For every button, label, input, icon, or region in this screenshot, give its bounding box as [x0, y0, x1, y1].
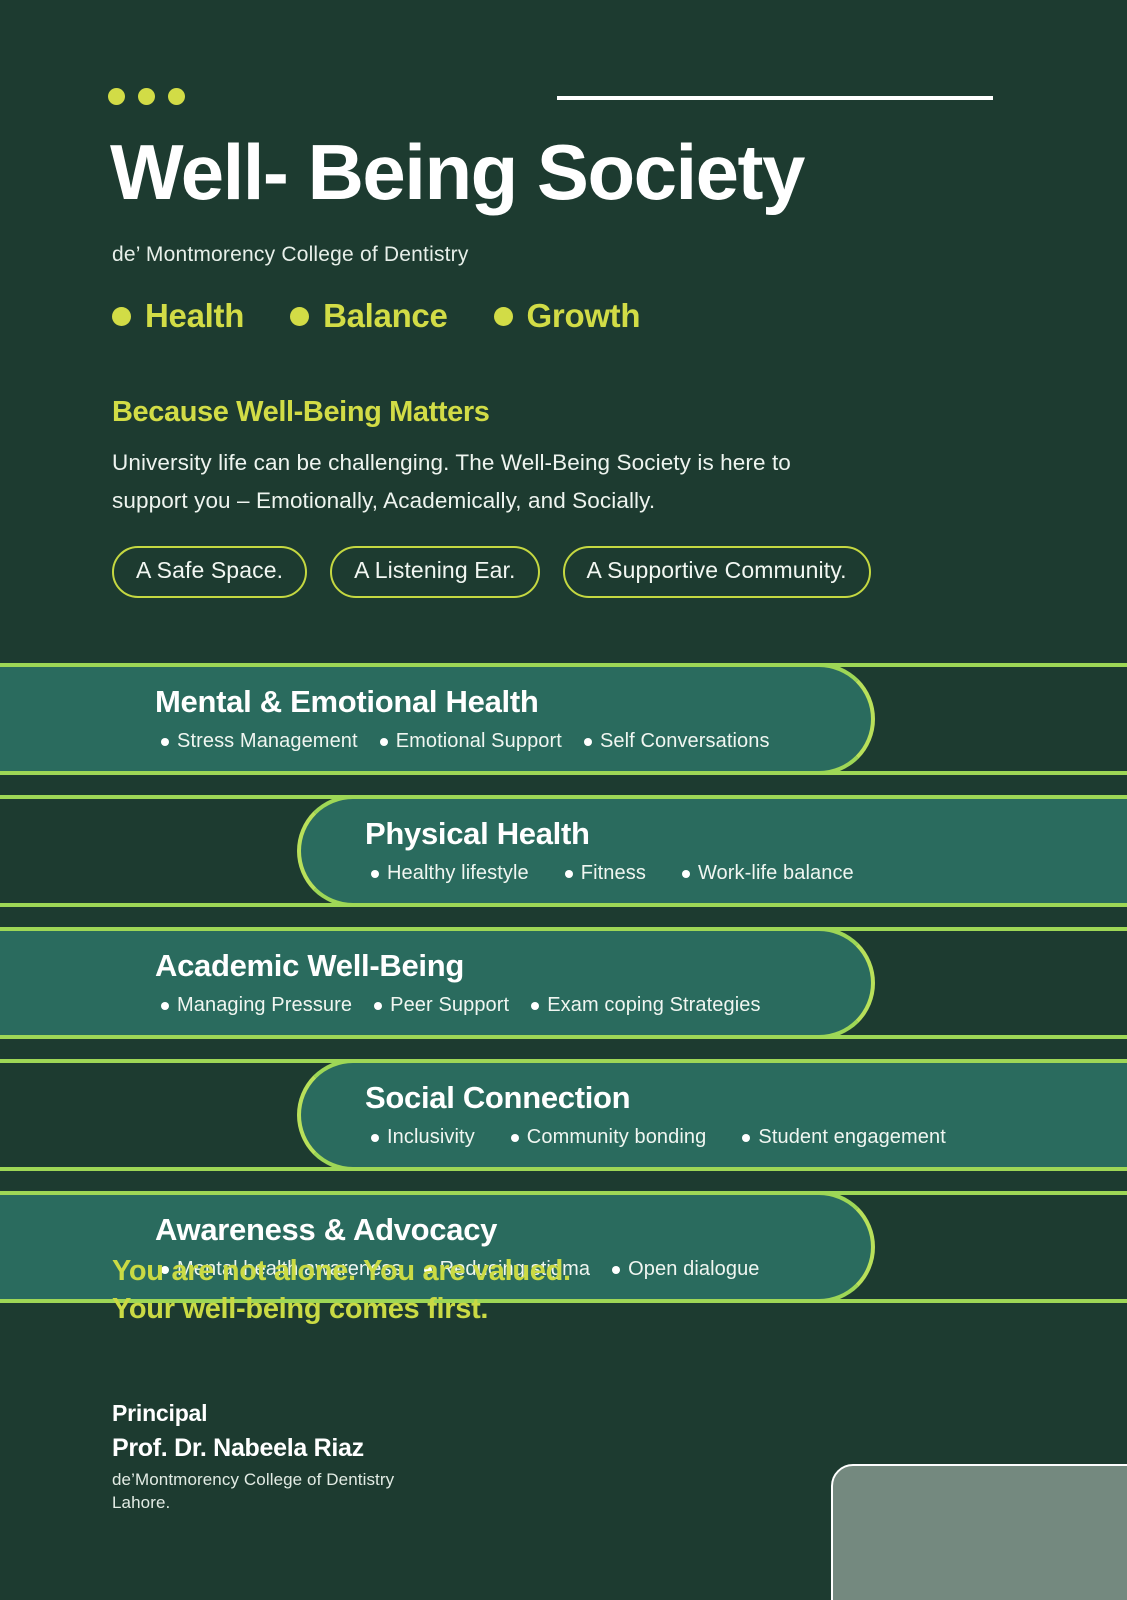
- bar-item-list: Healthy lifestyle Fitness Work-life bala…: [365, 862, 854, 885]
- list-item-label: Exam coping Strategies: [547, 994, 760, 1017]
- bar-content: Mental & Emotional Health Stress Managem…: [0, 667, 770, 771]
- bar-content: Academic Well-Being Managing Pressure Pe…: [0, 931, 761, 1035]
- bullet-dot-icon: [371, 1134, 379, 1142]
- bar-bottom-edge: [0, 771, 1127, 775]
- bar-bottom-edge: [0, 1167, 1127, 1171]
- horizontal-rule-icon: [557, 96, 993, 100]
- bullet-dot-icon: [161, 1002, 169, 1010]
- signature-org-line-2: Lahore.: [112, 1492, 394, 1515]
- signature-org-line-1: de’Montmorency College of Dentistry: [112, 1469, 394, 1492]
- chip-supportive-community[interactable]: A Supportive Community.: [563, 546, 871, 598]
- bullet-dot-icon: [742, 1134, 750, 1142]
- dot-2-icon: [138, 88, 155, 105]
- list-item-label: Fitness: [581, 862, 646, 885]
- list-item: Emotional Support: [380, 730, 562, 753]
- chip-listening-ear[interactable]: A Listening Ear.: [330, 546, 539, 598]
- pillar-item-growth: Growth: [494, 297, 641, 335]
- bar-bottom-edge: [0, 903, 1127, 907]
- bar-title: Awareness & Advocacy: [155, 1213, 760, 1247]
- list-item: Inclusivity: [371, 1126, 475, 1149]
- page-title: Well- Being Society: [110, 133, 804, 211]
- three-dots-icon: [108, 88, 185, 105]
- corner-panel: [831, 1464, 1127, 1600]
- list-item-label: Inclusivity: [387, 1126, 475, 1149]
- bullet-dot-icon: [371, 870, 379, 878]
- list-item: Student engagement: [742, 1126, 946, 1149]
- bar-gap: [0, 775, 1127, 795]
- focus-bar-academic-well-being[interactable]: Academic Well-Being Managing Pressure Pe…: [0, 927, 875, 1039]
- bar-title: Academic Well-Being: [155, 949, 761, 983]
- bullet-dot-icon: [511, 1134, 519, 1142]
- bar-gap: [0, 1039, 1127, 1059]
- list-item-label: Stress Management: [177, 730, 358, 753]
- bullet-dot-icon: [374, 1002, 382, 1010]
- intro-body-line-2: support you – Emotionally, Academically,…: [112, 482, 996, 520]
- intro-heading: Because Well-Being Matters: [112, 396, 489, 429]
- focus-bar-social-connection[interactable]: Social Connection Inclusivity Community …: [297, 1059, 1127, 1171]
- closing-line-2: Your well-being comes first.: [112, 1290, 571, 1328]
- page-subtitle: de’ Montmorency College of Dentistry: [112, 243, 469, 267]
- chip-list: A Safe Space. A Listening Ear. A Support…: [112, 546, 871, 598]
- bullet-dot-icon: [531, 1002, 539, 1010]
- bullet-dot-icon: [682, 870, 690, 878]
- signature-role: Principal: [112, 1400, 394, 1427]
- bar-item-list: Stress Management Emotional Support Self…: [155, 730, 770, 753]
- bar-title: Social Connection: [365, 1081, 946, 1115]
- list-item: Community bonding: [511, 1126, 707, 1149]
- dot-3-icon: [168, 88, 185, 105]
- list-item: Open dialogue: [612, 1258, 759, 1281]
- list-item-label: Healthy lifestyle: [387, 862, 529, 885]
- poster-canvas: Well- Being Society de’ Montmorency Coll…: [0, 0, 1127, 1600]
- signature-block: Principal Prof. Dr. Nabeela Riaz de’Mont…: [112, 1400, 394, 1514]
- closing-line-1: You are not alone. You are valued.: [112, 1252, 571, 1290]
- pillar-item-balance: Balance: [290, 297, 447, 335]
- pillar-label: Balance: [323, 297, 447, 335]
- bullet-dot-icon: [161, 738, 169, 746]
- list-item-label: Open dialogue: [628, 1258, 759, 1281]
- bar-content: Social Connection Inclusivity Community …: [301, 1063, 946, 1167]
- focus-bar-mental-emotional-health[interactable]: Mental & Emotional Health Stress Managem…: [0, 663, 875, 775]
- bar-bottom-edge: [0, 1035, 1127, 1039]
- bar-gap: [0, 907, 1127, 927]
- list-item-label: Managing Pressure: [177, 994, 352, 1017]
- bullet-dot-icon: [612, 1266, 620, 1274]
- list-item: Work-life balance: [682, 862, 854, 885]
- list-item-label: Community bonding: [527, 1126, 707, 1149]
- intro-body-line-1: University life can be challenging. The …: [112, 444, 996, 482]
- list-item-label: Self Conversations: [600, 730, 770, 753]
- focus-area-list: Mental & Emotional Health Stress Managem…: [0, 663, 1127, 1303]
- list-item: Exam coping Strategies: [531, 994, 760, 1017]
- pillar-item-health: Health: [112, 297, 244, 335]
- chip-safe-space[interactable]: A Safe Space.: [112, 546, 307, 598]
- list-item: Fitness: [565, 862, 646, 885]
- signature-name: Prof. Dr. Nabeela Riaz: [112, 1434, 394, 1463]
- list-item-label: Peer Support: [390, 994, 509, 1017]
- bar-content: Physical Health Healthy lifestyle Fitnes…: [301, 799, 854, 903]
- pillar-label: Health: [145, 297, 244, 335]
- signature-organization: de’Montmorency College of Dentistry Laho…: [112, 1469, 394, 1514]
- list-item-label: Emotional Support: [396, 730, 562, 753]
- bullet-dot-icon: [584, 738, 592, 746]
- intro-body: University life can be challenging. The …: [112, 444, 996, 520]
- bullet-dot-icon: [112, 307, 131, 326]
- pillar-list: Health Balance Growth: [112, 297, 640, 335]
- list-item: Peer Support: [374, 994, 509, 1017]
- list-item: Self Conversations: [584, 730, 770, 753]
- dot-1-icon: [108, 88, 125, 105]
- list-item: Managing Pressure: [161, 994, 352, 1017]
- bullet-dot-icon: [494, 307, 513, 326]
- bar-item-list: Inclusivity Community bonding Student en…: [365, 1126, 946, 1149]
- list-item-label: Work-life balance: [698, 862, 854, 885]
- list-item: Healthy lifestyle: [371, 862, 529, 885]
- list-item-label: Student engagement: [758, 1126, 946, 1149]
- focus-bar-physical-health[interactable]: Physical Health Healthy lifestyle Fitnes…: [297, 795, 1127, 907]
- bullet-dot-icon: [565, 870, 573, 878]
- closing-message: You are not alone. You are valued. Your …: [112, 1252, 571, 1329]
- bar-title: Physical Health: [365, 817, 854, 851]
- pillar-label: Growth: [527, 297, 641, 335]
- list-item: Stress Management: [161, 730, 358, 753]
- bar-item-list: Managing Pressure Peer Support Exam copi…: [155, 994, 761, 1017]
- bullet-dot-icon: [290, 307, 309, 326]
- bar-title: Mental & Emotional Health: [155, 685, 770, 719]
- bar-gap: [0, 1171, 1127, 1191]
- bullet-dot-icon: [380, 738, 388, 746]
